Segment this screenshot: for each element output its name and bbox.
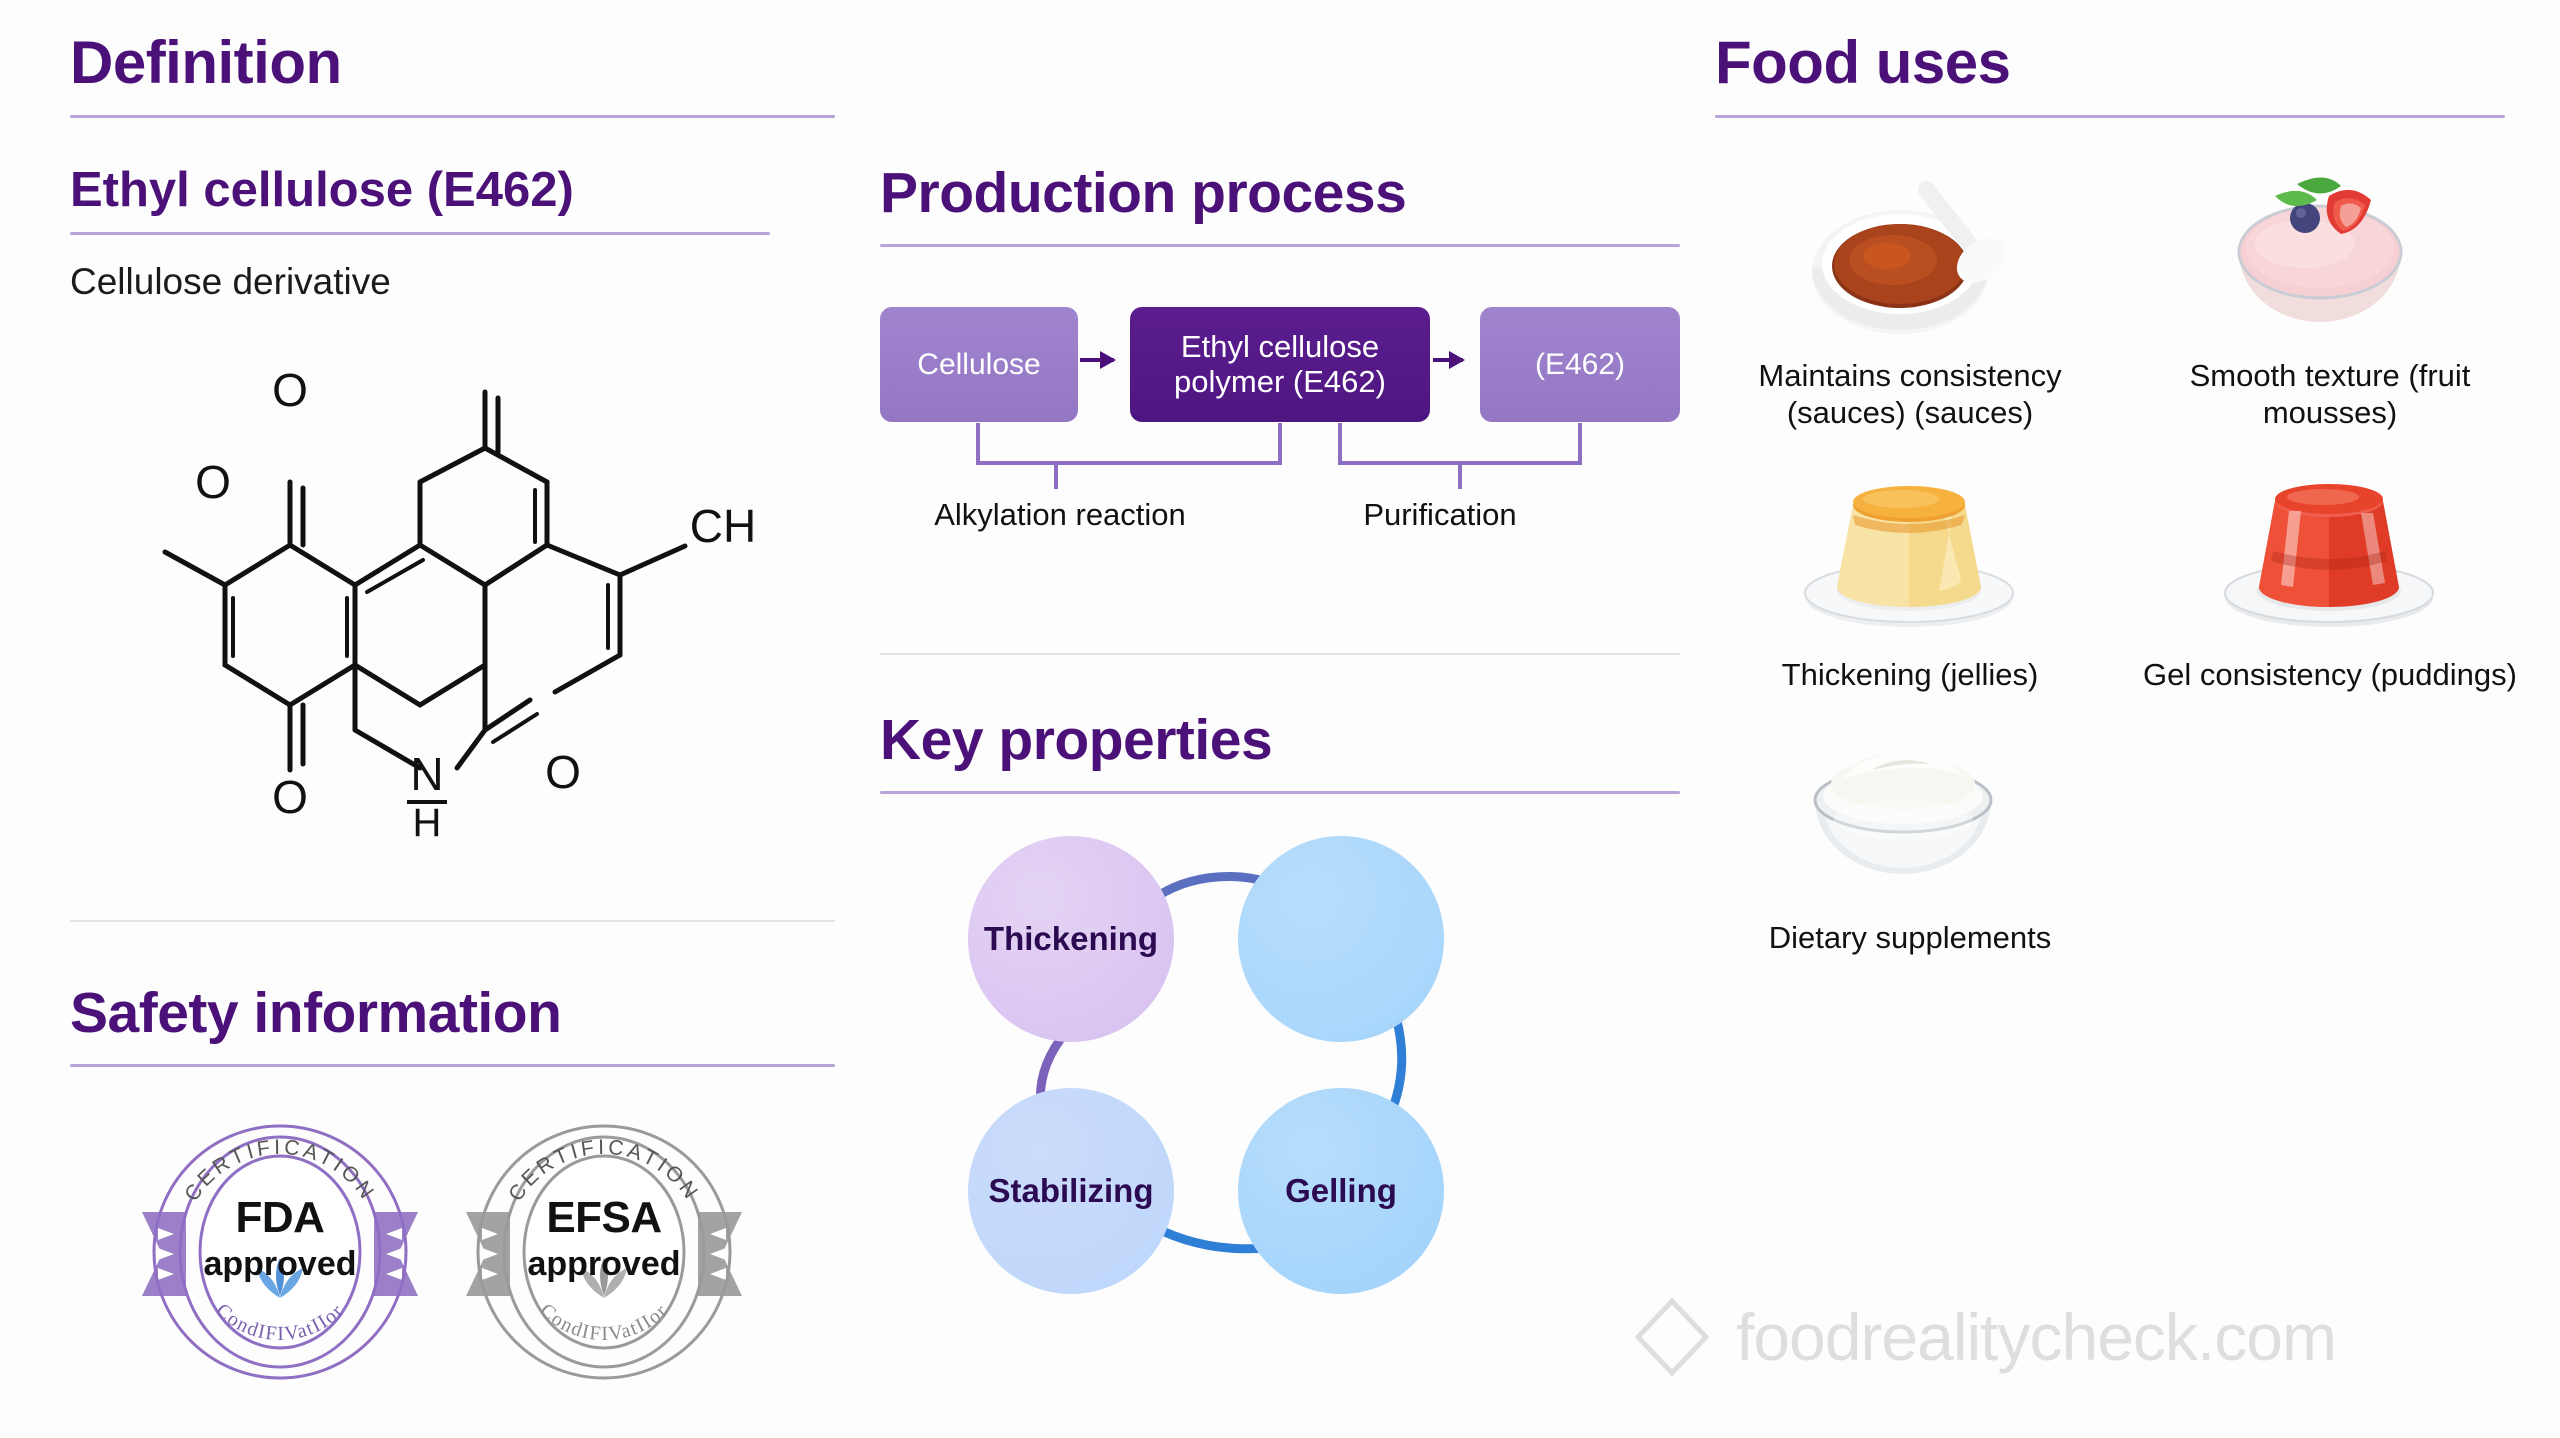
compound-name-rule <box>70 232 770 235</box>
safety-title-rule <box>70 1064 835 1067</box>
food-use-caption: Thickening (jellies) <box>1720 656 2100 693</box>
atom-label-o-ring: O <box>545 746 581 798</box>
food-use-caption: Dietary supplements <box>1720 919 2100 956</box>
atom-label-o-top: O <box>272 370 308 416</box>
diamond-icon <box>1630 1295 1714 1379</box>
atom-label-o-lower-left: O <box>272 771 308 823</box>
caramel-flan-icon <box>1775 459 2045 644</box>
key-properties-title-rule <box>880 791 1680 794</box>
food-use-item: Smooth texture (fruit mousses) <box>2120 160 2540 431</box>
flow-step-label-purification: Purification <box>1280 497 1600 534</box>
key-properties-section-title: Key properties <box>880 707 1680 773</box>
atom-label-o-upper-left: O <box>195 456 231 508</box>
fda-badge-svg: CERTIFICATION CondIFIVatIIor <box>140 1100 420 1385</box>
atom-label-h: H <box>413 801 442 845</box>
food-uses-grid: Maintains consistency (sauces) (sauces) <box>1700 160 2540 956</box>
food-use-item: Thickening (jellies) <box>1700 459 2120 693</box>
food-uses-section-title: Food uses <box>1715 28 2505 97</box>
production-flowchart: Cellulose Ethyl cellulose polymer (E462)… <box>880 307 1680 577</box>
compound-name-heading: Ethyl cellulose (E462) <box>70 162 840 218</box>
flow-arrow-1 <box>1080 358 1114 362</box>
whipped-cream-bowl-icon <box>1775 722 2045 907</box>
definition-column: Definition Ethyl cellulose (E462) Cellul… <box>70 28 840 303</box>
red-jelly-icon <box>2195 459 2465 644</box>
food-use-item: Maintains consistency (sauces) (sauces) <box>1700 160 2120 431</box>
safety-section-title: Safety information <box>70 980 860 1046</box>
certification-badge-group: CERTIFICATION CondIFIVatIIor FDA approve… <box>140 1100 744 1385</box>
flow-step-label-alkylation: Alkylation reaction <box>910 497 1210 534</box>
atom-label-ch: CH <box>690 500 756 552</box>
efsa-approved-badge: CERTIFICATION CondIFIVatIIor EFSA approv… <box>464 1100 744 1385</box>
key-properties-diagram: Thickening Stabilizing Gelling <box>880 836 1680 1296</box>
efsa-badge-sub-label: approved <box>464 1245 744 1284</box>
fda-approved-badge: CERTIFICATION CondIFIVatIIor FDA approve… <box>140 1100 420 1385</box>
compound-description: Cellulose derivative <box>70 261 840 303</box>
property-node-thickening[interactable]: Thickening <box>968 836 1174 1042</box>
property-node-label: Stabilizing <box>989 1172 1154 1210</box>
property-node-gelling[interactable]: Gelling <box>1238 1088 1444 1294</box>
watermark-text: foodrealitycheck.com <box>1736 1299 2336 1375</box>
safety-column: Safety information <box>70 980 860 1067</box>
atom-label-n: N <box>410 748 443 800</box>
flow-box-ethyl-cellulose-polymer[interactable]: Ethyl cellulose polymer (E462) <box>1130 307 1430 422</box>
flow-arrow-2 <box>1433 358 1463 362</box>
property-node-stabilizing[interactable]: Stabilizing <box>968 1088 1174 1294</box>
definition-title-rule <box>70 115 835 118</box>
watermark: foodrealitycheck.com <box>1630 1295 2336 1379</box>
fruit-mousse-bowl-icon <box>2195 160 2465 345</box>
production-section-title: Production process <box>880 160 1680 226</box>
food-use-caption: Maintains consistency (sauces) (sauces) <box>1720 357 2100 431</box>
property-node-label: Thickening <box>984 920 1158 958</box>
production-title-rule <box>880 244 1680 247</box>
flow-brackets-svg <box>880 417 1680 497</box>
definition-section-title: Definition <box>70 28 840 97</box>
food-use-item: Gel consistency (puddings) <box>2120 459 2540 693</box>
food-uses-title-rule <box>1715 115 2505 118</box>
left-column-divider <box>70 920 835 922</box>
chemical-structure-diagram: O O O O N H CH <box>75 370 775 860</box>
property-node-unlabeled[interactable] <box>1238 836 1444 1042</box>
food-use-caption: Gel consistency (puddings) <box>2140 656 2520 693</box>
property-node-label: Gelling <box>1285 1172 1397 1210</box>
molecule-svg: O O O O N H CH <box>75 370 775 860</box>
flow-box-e462[interactable]: (E462) <box>1480 307 1680 422</box>
fda-badge-sub-label: approved <box>140 1245 420 1284</box>
production-column: Production process Cellulose Ethyl cellu… <box>880 160 1680 1296</box>
fda-badge-main-label: FDA <box>140 1196 420 1240</box>
key-properties-column: Key properties <box>880 707 1680 794</box>
efsa-badge-main-label: EFSA <box>464 1196 744 1240</box>
efsa-badge-svg: CERTIFICATION CondIFIVatIIor <box>464 1100 744 1385</box>
food-use-caption: Smooth texture (fruit mousses) <box>2140 357 2520 431</box>
food-uses-column: Food uses <box>1715 28 2505 118</box>
infographic-page: Definition Ethyl cellulose (E462) Cellul… <box>0 0 2560 1438</box>
sauce-bowl-icon <box>1775 160 2045 345</box>
flow-box-cellulose[interactable]: Cellulose <box>880 307 1078 422</box>
middle-column-divider <box>880 653 1680 655</box>
food-use-item: Dietary supplements <box>1700 722 2120 956</box>
